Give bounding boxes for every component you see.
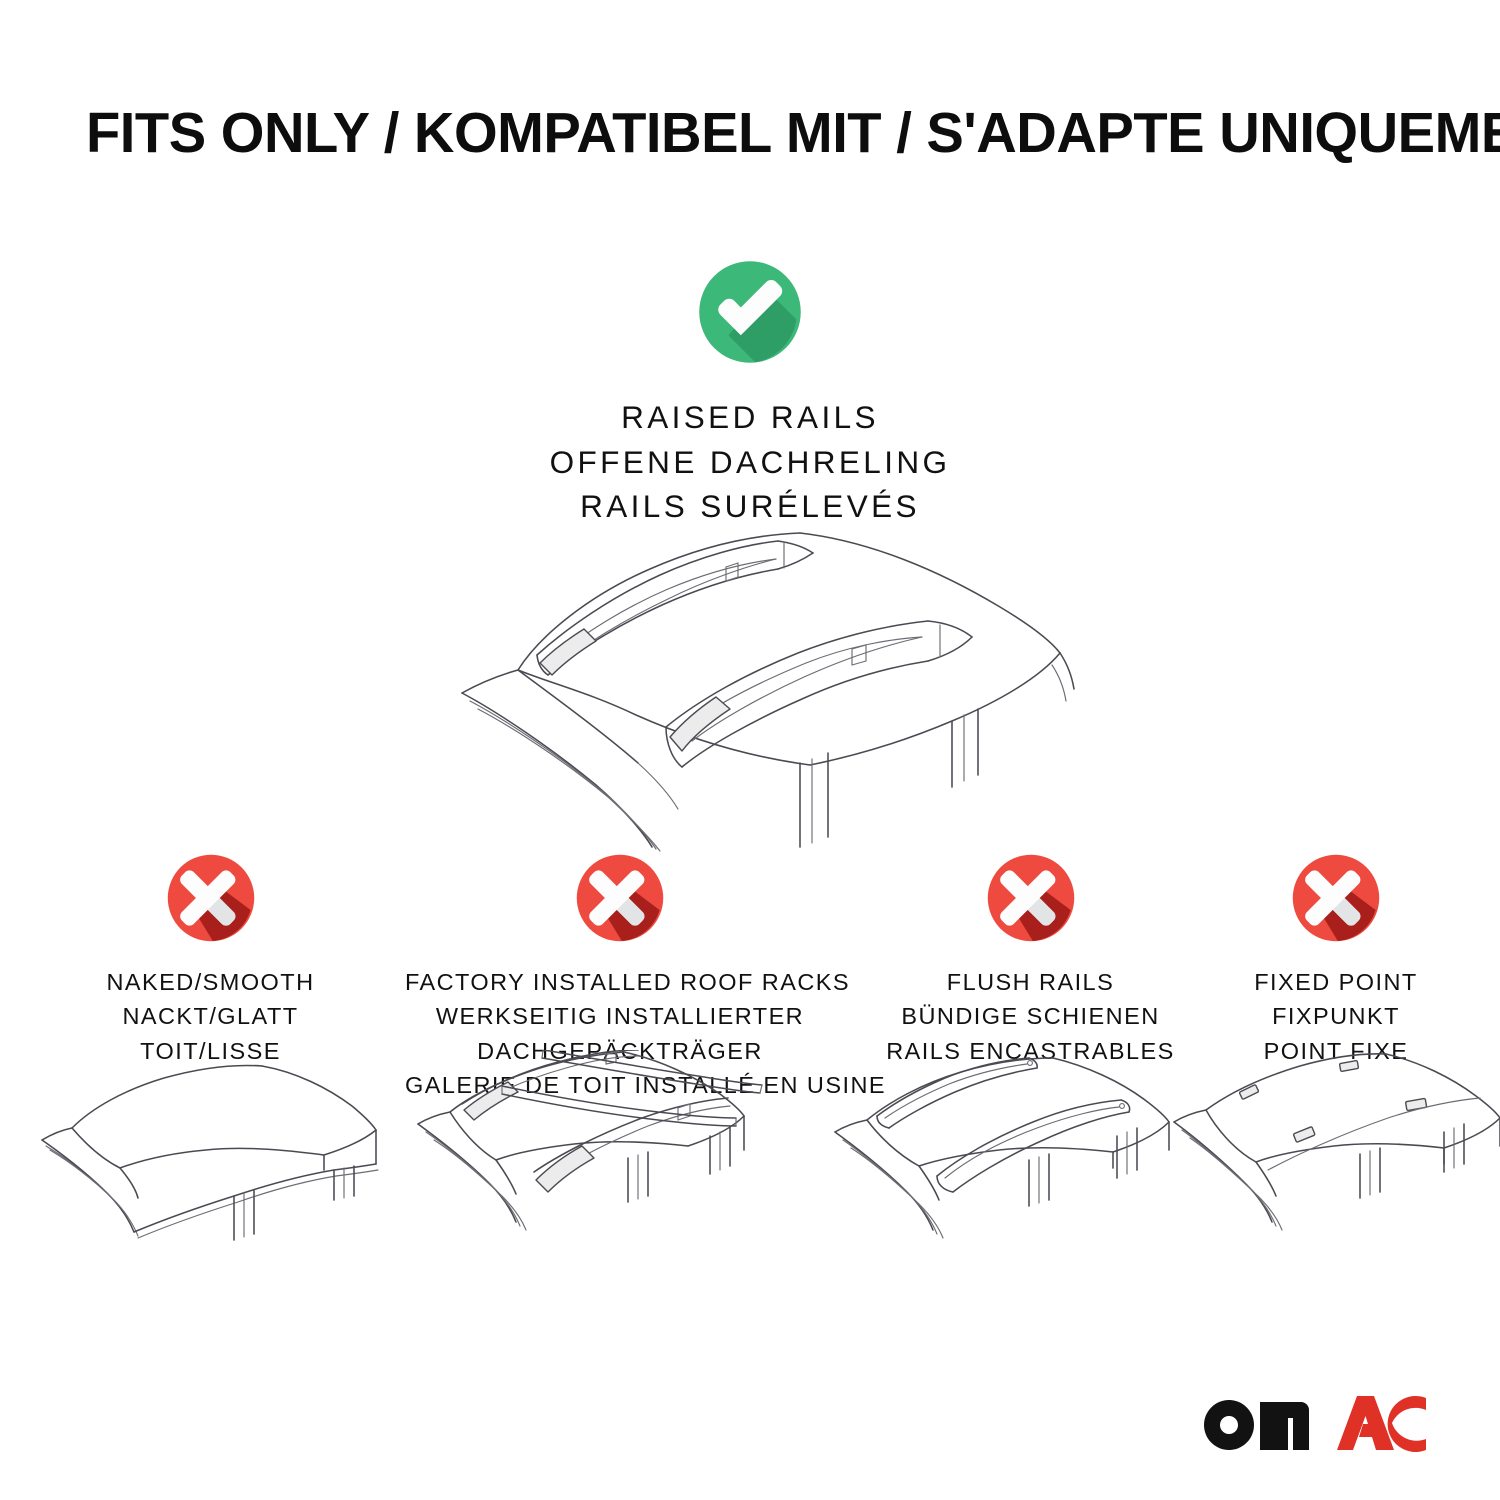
red-x-icon: [165, 852, 257, 944]
omac-letter-m: [1260, 1402, 1309, 1450]
omac-letter-a: [1337, 1396, 1394, 1450]
car-roof-raised-rails-illustration: [400, 495, 1120, 855]
compatible-section: RAISED RAILS OFFENE DACHRELING RAILS SUR…: [0, 258, 1500, 529]
not-compatible-section: NAKED/SMOOTH NACKT/GLATT TOIT/LISSE: [0, 852, 1500, 1472]
red-x-icon: [985, 852, 1077, 944]
item-label-en: FACTORY INSTALLED ROOF RACKS: [405, 965, 835, 999]
not-compatible-item-factory-roof-racks: FACTORY INSTALLED ROOF RACKS WERKSEITIG …: [405, 852, 835, 1102]
car-roof-fixed-point-illustration: [1172, 1050, 1500, 1285]
not-compatible-item-fixed-point: FIXED POINT FIXPUNKT POINT FIXE: [1180, 852, 1492, 1068]
not-compatible-item-flush-rails: FLUSH RAILS BÜNDIGE SCHIENEN RAILS ENCAS…: [838, 852, 1223, 1068]
item-label-en: NAKED/SMOOTH: [18, 965, 403, 999]
car-roof-flush-rails-illustration: [833, 1050, 1183, 1285]
red-x-icon: [574, 852, 666, 944]
item-label-de: FIXPUNKT: [1180, 999, 1492, 1033]
item-label-en: FLUSH RAILS: [838, 965, 1223, 999]
car-roof-factory-racks-illustration: [410, 1050, 765, 1285]
red-x-icon: [1290, 852, 1382, 944]
not-compatible-item-naked-smooth: NAKED/SMOOTH NACKT/GLATT TOIT/LISSE: [18, 852, 403, 1068]
item-label-de: WERKSEITIG INSTALLIERTER: [405, 999, 835, 1033]
item-label-de: NACKT/GLATT: [18, 999, 403, 1033]
compatible-label-en: RAISED RAILS: [0, 395, 1500, 440]
omac-logo: [1196, 1392, 1428, 1458]
page-title: FITS ONLY / KOMPATIBEL MIT / S'ADAPTE UN…: [86, 104, 1406, 164]
omac-letter-o: [1204, 1400, 1254, 1450]
item-label-en: FIXED POINT: [1180, 965, 1492, 999]
compatible-label-de: OFFENE DACHRELING: [0, 440, 1500, 485]
green-check-icon: [696, 258, 804, 366]
omac-letter-c: [1388, 1396, 1426, 1452]
item-label-de: BÜNDIGE SCHIENEN: [838, 999, 1223, 1033]
car-roof-naked-illustration: [38, 1050, 388, 1285]
